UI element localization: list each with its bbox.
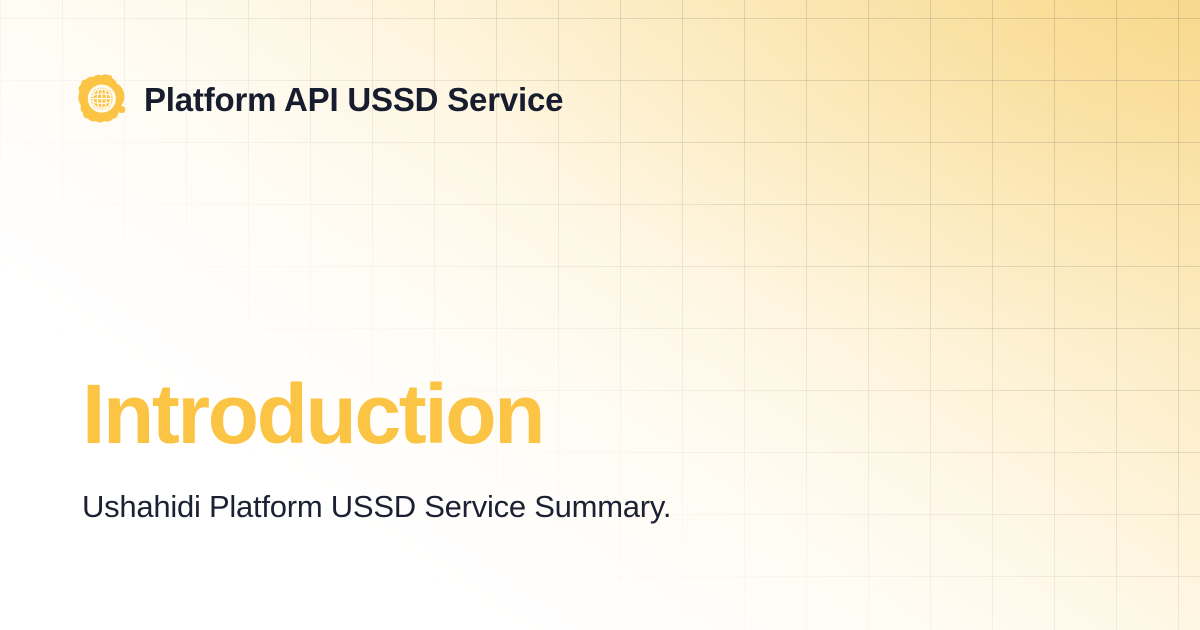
- brand-header: Platform API USSD Service: [78, 74, 563, 124]
- hero-block: Introduction Ushahidi Platform USSD Serv…: [82, 372, 1112, 527]
- content-layer: Platform API USSD Service Introduction U…: [0, 0, 1200, 630]
- globe-logo-icon: [78, 74, 128, 124]
- brand-title: Platform API USSD Service: [144, 83, 563, 116]
- page-subtitle: Ushahidi Platform USSD Service Summary.: [82, 488, 1112, 527]
- og-card: Platform API USSD Service Introduction U…: [0, 0, 1200, 630]
- page-title: Introduction: [82, 372, 1112, 456]
